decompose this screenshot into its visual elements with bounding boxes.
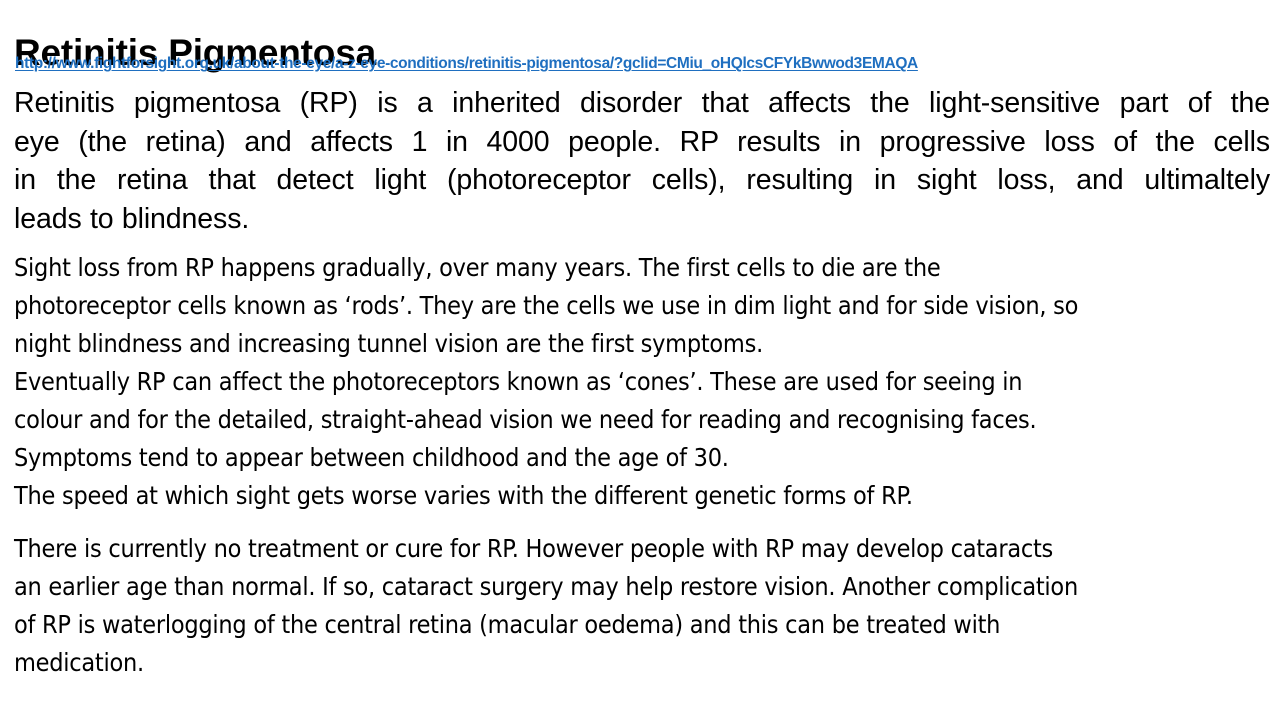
paragraph-rods: Sight loss from RP happens gradually, ov…	[14, 249, 1272, 363]
paragraph-cones: Eventually RP can affect the photorecept…	[14, 363, 1272, 515]
paragraph-intro-line: in the retina that detect light (photore…	[14, 161, 1270, 200]
paragraph-treatment-line: There is currently no treatment or cure …	[14, 530, 1272, 568]
paragraph-treatment-line: medication.	[14, 644, 1272, 682]
paragraph-intro-line: Retinitis pigmentosa (RP) is a inherited…	[14, 84, 1270, 123]
paragraph-intro-line: eye (the retina) and affects 1 in 4000 p…	[14, 123, 1270, 162]
paragraph-treatment-line: of RP is waterlogging of the central ret…	[14, 606, 1272, 644]
paragraph-rods-line: night blindness and increasing tunnel vi…	[14, 325, 1272, 363]
paragraph-rods-line: photoreceptor cells known as ‘rods’. The…	[14, 287, 1272, 325]
slide-canvas: Retinitis Pigmentosa http://www.fightfor…	[0, 0, 1280, 720]
paragraph-cones-line: colour and for the detailed, straight-ah…	[14, 401, 1272, 439]
paragraph-treatment: There is currently no treatment or cure …	[14, 530, 1272, 682]
paragraph-cones-line: Symptoms tend to appear between childhoo…	[14, 439, 1272, 477]
paragraph-intro: Retinitis pigmentosa (RP) is a inherited…	[14, 84, 1270, 238]
paragraph-intro-line: leads to blindness.	[14, 200, 1270, 239]
paragraph-rods-line: Sight loss from RP happens gradually, ov…	[14, 249, 1272, 287]
paragraph-cones-line: The speed at which sight gets worse vari…	[14, 477, 1272, 515]
paragraph-cones-line: Eventually RP can affect the photorecept…	[14, 363, 1272, 401]
source-url-link[interactable]: http://www.fightforsight.org.uk/about-th…	[15, 54, 1270, 74]
paragraph-treatment-line: an earlier age than normal. If so, catar…	[14, 568, 1272, 606]
